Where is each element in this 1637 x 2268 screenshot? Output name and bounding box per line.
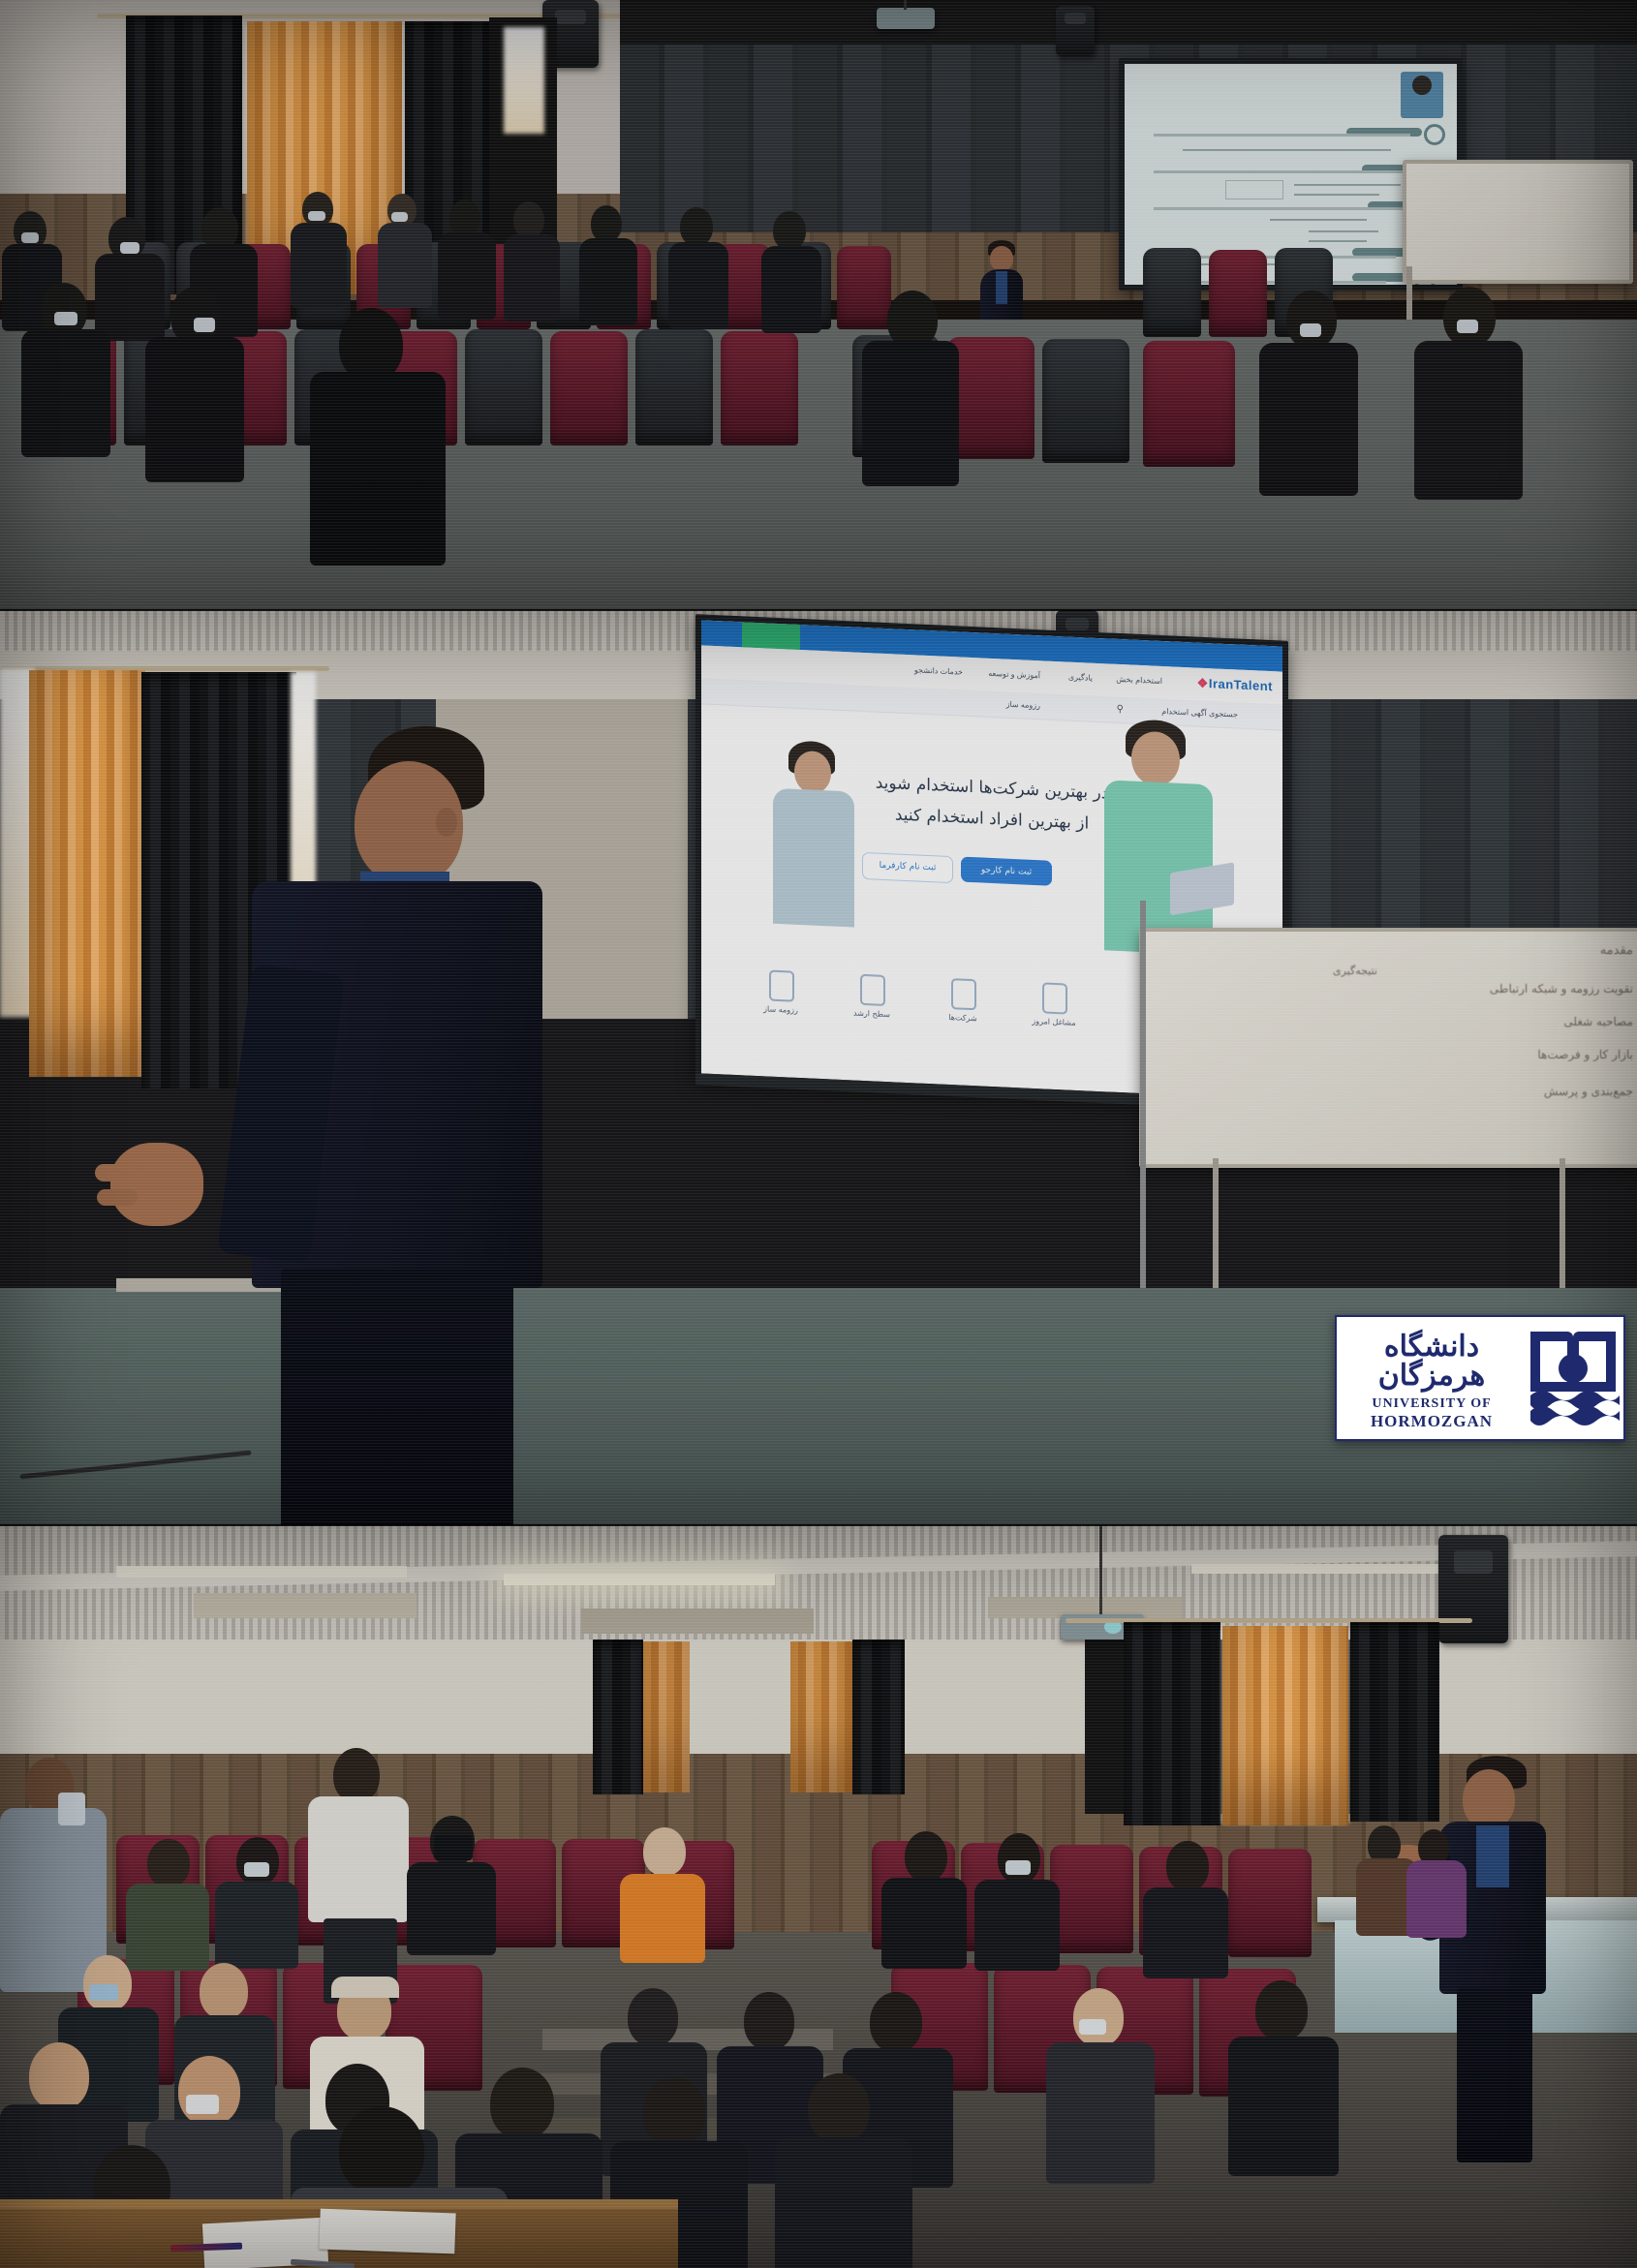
head	[1255, 1980, 1308, 2040]
search-icon[interactable]: ⚲	[1117, 704, 1124, 715]
body	[668, 242, 728, 329]
curtain-orange[interactable]	[29, 670, 145, 1077]
head	[1166, 1841, 1209, 1891]
head	[339, 308, 403, 382]
irantalent-logo[interactable]: ❖IranTalent	[1194, 675, 1273, 694]
head	[200, 1963, 248, 2019]
feature-icon-3	[1042, 982, 1067, 1014]
body	[215, 1882, 298, 1969]
body	[881, 1878, 967, 1969]
body	[579, 238, 637, 325]
body	[1143, 1887, 1228, 1978]
collage-panel-top	[0, 0, 1637, 610]
body	[773, 788, 854, 928]
attendee	[215, 1837, 304, 1963]
attendee	[145, 287, 252, 480]
attendee	[775, 2073, 920, 2268]
feature-icon-0	[769, 970, 794, 1002]
audience-block-top	[0, 0, 1637, 610]
head	[887, 291, 938, 349]
body	[775, 2137, 912, 2268]
attendee	[1046, 1988, 1160, 2182]
face-mask	[391, 212, 408, 222]
whiteboard-note-1: تقویت رزومه و شبکه ارتباطی	[1490, 982, 1633, 996]
head	[236, 1837, 279, 1885]
feature-label-0[interactable]: رزومه ساز	[746, 1003, 816, 1015]
seat[interactable]	[1209, 250, 1267, 337]
attendee	[291, 192, 353, 308]
attendee	[19, 283, 116, 457]
cta-secondary-button[interactable]: ثبت نام کارفرما	[862, 852, 953, 883]
laptop-icon	[1170, 862, 1234, 915]
nav-item-0[interactable]: استخدام بخش	[1116, 675, 1162, 686]
photo-collage-page: ❖IranTalent استخدام بخش یادگیری آموزش و …	[0, 0, 1637, 2268]
body	[1414, 341, 1523, 500]
attendee	[1414, 287, 1530, 500]
nav-item-2[interactable]: آموزش و توسعه	[988, 669, 1040, 680]
head	[178, 2056, 240, 2126]
body	[310, 372, 446, 566]
body	[291, 223, 347, 308]
presenter-middle-panel	[145, 726, 552, 1501]
feature-icon-2	[951, 978, 976, 1010]
body	[761, 246, 821, 333]
head	[808, 2073, 870, 2143]
cap-icon	[331, 1977, 399, 1998]
finger	[97, 1189, 138, 1206]
feature-label-2[interactable]: شرکت‌ها	[928, 1012, 998, 1024]
head	[513, 201, 544, 238]
head	[29, 2042, 89, 2110]
body	[308, 1796, 409, 1922]
attendee	[668, 207, 734, 325]
seat[interactable]	[465, 329, 542, 445]
head	[643, 1827, 686, 1876]
attendee	[579, 205, 643, 322]
university-of-hormozgan-logo: دانشگاه هرمزگان UNIVERSITY OF HORMOZGAN	[1335, 1315, 1625, 1441]
head	[773, 211, 806, 250]
whiteboard-note-title: مقدمه	[1600, 943, 1633, 958]
attendee	[126, 1839, 215, 1965]
audience-block-bottom	[0, 1525, 1637, 2268]
head	[870, 1992, 922, 2052]
collage-panel-middle: ❖IranTalent استخدام بخش یادگیری آموزش و …	[0, 610, 1637, 1525]
head	[83, 1955, 132, 2011]
attendee	[504, 201, 566, 318]
whiteboard-middle-panel: مقدمه تقویت رزومه و شبکه ارتباطی مصاحبه …	[1139, 928, 1637, 1168]
seat[interactable]	[1143, 341, 1235, 467]
seat[interactable]	[1143, 248, 1201, 337]
nav-item-1[interactable]: یادگیری	[1068, 673, 1093, 683]
seat[interactable]	[1042, 339, 1129, 463]
head	[1286, 291, 1337, 349]
head	[905, 1831, 947, 1882]
ear	[436, 808, 457, 837]
head	[794, 751, 831, 795]
head	[744, 1992, 794, 2050]
attendee	[761, 211, 827, 329]
whiteboard-note-2: مصاحبه شغلی	[1563, 1015, 1633, 1028]
seat[interactable]	[721, 331, 798, 445]
face-mask	[1457, 320, 1478, 333]
logo-line-1: UNIVERSITY OF	[1343, 1396, 1521, 1412]
logo-line-2: HORMOZGAN	[1343, 1412, 1521, 1431]
body	[974, 1880, 1060, 1971]
attendee	[378, 194, 438, 308]
open-book-emblem-icon	[1527, 1326, 1620, 1431]
face-mask	[308, 211, 325, 221]
face-mask	[120, 242, 139, 254]
head	[591, 205, 622, 242]
attendee-standing	[308, 1748, 415, 2000]
face-mask	[54, 312, 77, 325]
whiteboard-leg-right	[1560, 1158, 1565, 1303]
cta-primary-button[interactable]: ثبت نام کارجو	[961, 857, 1052, 886]
face-mask	[21, 232, 39, 243]
topbar-badge	[742, 622, 800, 650]
collage-panel-bottom	[0, 1525, 1637, 2268]
face-mask	[186, 2095, 219, 2114]
hero-illustration-right	[1089, 718, 1234, 957]
face-mask	[1005, 1860, 1031, 1875]
attendee	[407, 1816, 502, 1951]
panel-divider-2	[0, 1524, 1637, 1526]
attendee	[310, 308, 455, 560]
irantalent-mark-icon: ❖	[1197, 676, 1209, 692]
paper-sheet	[319, 2209, 455, 2254]
attendee	[862, 291, 969, 484]
head	[339, 2106, 424, 2195]
feature-label-1[interactable]: سطح ارشد	[837, 1008, 907, 1020]
finger	[95, 1164, 139, 1181]
brand-label: IranTalent	[1209, 676, 1273, 693]
attendee	[974, 1833, 1066, 1969]
hand	[110, 1143, 203, 1226]
whiteboard-side-note: نتیجه‌گیری	[1333, 965, 1377, 977]
face-mask	[1300, 323, 1321, 337]
logo-wordmark: دانشگاه هرمزگان UNIVERSITY OF HORMOZGAN	[1337, 1325, 1527, 1431]
head	[1443, 287, 1496, 347]
phone-icon	[58, 1793, 85, 1825]
hero-illustration-left	[759, 739, 866, 928]
body	[378, 223, 432, 308]
head	[147, 1839, 190, 1887]
head	[628, 1988, 678, 2046]
body	[1046, 2042, 1155, 2184]
face-mask	[89, 1984, 118, 2001]
feature-icon-1	[860, 974, 885, 1006]
face-mask	[1079, 2019, 1106, 2035]
body	[145, 337, 244, 482]
whiteboard-note-4: جمع‌بندی و پرسش	[1544, 1085, 1633, 1098]
head	[170, 287, 221, 345]
subnav-item-0[interactable]: جستجوی آگهی استخدام	[1161, 707, 1238, 720]
attendee	[881, 1831, 973, 1967]
legs	[281, 1269, 513, 1525]
body	[620, 1874, 705, 1963]
head	[643, 2077, 705, 2147]
feature-label-3[interactable]: مشاغل امروز	[1019, 1016, 1089, 1027]
logo-persian-name: دانشگاه هرمزگان	[1343, 1325, 1521, 1396]
seat[interactable]	[1228, 1849, 1312, 1957]
head	[1073, 1988, 1124, 2046]
panel-divider-1	[0, 609, 1637, 611]
camera-icon	[434, 1835, 473, 1860]
nav-item-3[interactable]: خدمات دانشجو	[914, 665, 963, 676]
head	[333, 1748, 380, 1802]
attendee	[620, 1827, 711, 1959]
head	[680, 207, 713, 246]
face-mask	[244, 1862, 269, 1877]
screen-stand-pole	[1140, 901, 1146, 1344]
body	[1259, 343, 1358, 496]
body	[438, 232, 496, 320]
attendee	[1143, 1841, 1234, 1977]
head	[302, 192, 333, 227]
attendee	[438, 199, 502, 316]
seat[interactable]	[635, 329, 713, 445]
whiteboard-note-3: بازار کار و فرصت‌ها	[1537, 1048, 1633, 1061]
body	[1228, 2037, 1339, 2176]
head	[998, 1833, 1040, 1884]
desk-edge	[0, 2199, 678, 2209]
body	[407, 1862, 496, 1955]
attendee	[1228, 1980, 1344, 2174]
seat[interactable]	[550, 331, 628, 445]
head	[449, 199, 480, 236]
face-mask	[194, 318, 215, 332]
body	[862, 341, 959, 486]
body	[504, 234, 560, 322]
attendee	[1259, 291, 1366, 494]
body	[21, 329, 110, 457]
subnav-item-1[interactable]: رزومه ساز	[1006, 700, 1040, 711]
